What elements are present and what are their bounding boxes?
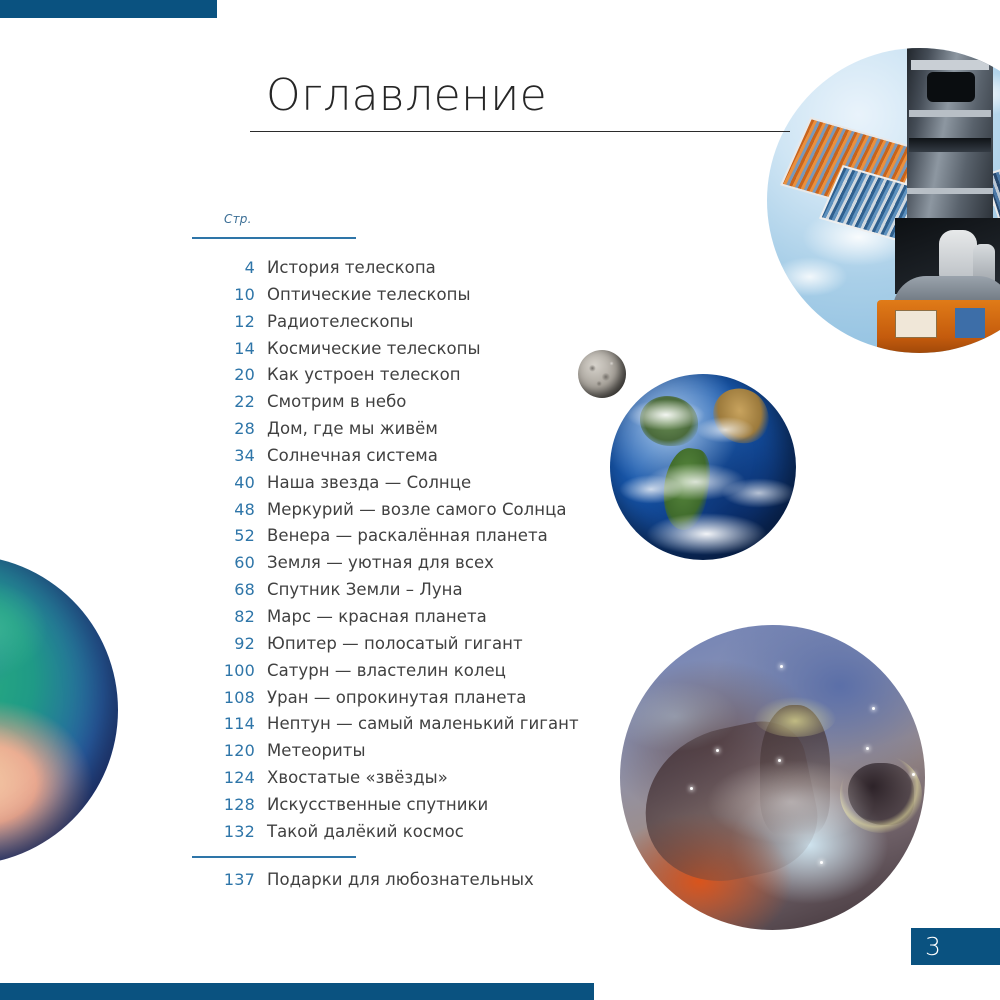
toc-entry[interactable]: 52Венера — раскалённая планета (192, 526, 612, 553)
toc-page-number: 12 (192, 312, 255, 331)
toc-entry-title: Земля — уютная для всех (267, 553, 494, 572)
telescope-aperture (927, 72, 975, 102)
toc-entry[interactable]: 60Земля — уютная для всех (192, 553, 612, 580)
telescope-ring-upper (909, 110, 991, 117)
nebula-photo (620, 625, 925, 930)
toc-page-number: 132 (192, 822, 255, 841)
toc-entry-title: Подарки для любознательных (267, 870, 534, 889)
toc-entry-title: Солнечная система (267, 446, 438, 465)
page-title: Оглавление (266, 70, 547, 121)
toc-page-number: 82 (192, 607, 255, 626)
venus-region-equator (0, 715, 44, 835)
toc-entry[interactable]: 124Хвостатые «звёзды» (192, 768, 612, 795)
toc-entry-title: Радиотелескопы (267, 312, 413, 331)
venus-region-northeast (0, 581, 48, 677)
hubble-space-telescope-photo (767, 48, 1000, 353)
toc-page-number: 20 (192, 365, 255, 384)
contents-bottom-divider (192, 856, 356, 858)
earth-cloud-layer (610, 374, 796, 560)
toc-entry-title: Нептун — самый маленький гигант (267, 714, 579, 733)
toc-entry[interactable]: 40Наша звезда — Солнце (192, 473, 612, 500)
toc-entry[interactable]: 100Сатурн — властелин колец (192, 661, 612, 688)
toc-page-number: 92 (192, 634, 255, 653)
toc-entry[interactable]: 48Меркурий — возле самого Солнца (192, 500, 612, 527)
contents-top-divider (192, 237, 356, 239)
toc-entry[interactable]: 68Спутник Земли – Луна (192, 580, 612, 607)
toc-entry[interactable]: 82Марс — красная планета (192, 607, 612, 634)
toc-entry[interactable]: 128Искусственные спутники (192, 795, 612, 822)
toc-page-number: 137 (192, 870, 255, 889)
toc-page-number: 48 (192, 500, 255, 519)
toc-page-number: 68 (192, 580, 255, 599)
table-of-contents: 4История телескопа10Оптические телескопы… (192, 258, 612, 849)
toc-page-number: 52 (192, 526, 255, 545)
toc-page-number: 4 (192, 258, 255, 277)
toc-entry-title: Уран — опрокинутая планета (267, 688, 526, 707)
nebula-stars (620, 625, 925, 930)
toc-page-number: 28 (192, 419, 255, 438)
toc-entry-title: Марс — красная планета (267, 607, 487, 626)
toc-page-number: 14 (192, 339, 255, 358)
toc-entry-title: Смотрим в небо (267, 392, 406, 411)
toc-page-number: 22 (192, 392, 255, 411)
toc-entry[interactable]: 20Как устроен телескоп (192, 365, 612, 392)
toc-entry-title: Такой далёкий космос (267, 822, 464, 841)
toc-entry[interactable]: 34Солнечная система (192, 446, 612, 473)
page-number-badge: 3 (911, 928, 1000, 965)
toc-entry[interactable]: 120Метеориты (192, 741, 612, 768)
toc-entry-title: Оптические телескопы (267, 285, 471, 304)
toc-entry-title: Искусственные спутники (267, 795, 488, 814)
top-accent-bar (0, 0, 217, 18)
toc-entry[interactable]: 22Смотрим в небо (192, 392, 612, 419)
toc-page-number: 124 (192, 768, 255, 787)
toc-entry[interactable]: 14Космические телескопы (192, 339, 612, 366)
telescope-base-module (877, 300, 1000, 353)
toc-entry-title: Космические телескопы (267, 339, 481, 358)
venus-surface-photo (0, 555, 118, 865)
toc-entry[interactable]: 28Дом, где мы живём (192, 419, 612, 446)
toc-page-number: 128 (192, 795, 255, 814)
toc-entry-title: Метеориты (267, 741, 366, 760)
toc-entry[interactable]: 92Юпитер — полосатый гигант (192, 634, 612, 661)
toc-entry[interactable]: 4История телескопа (192, 258, 612, 285)
toc-entry[interactable]: 10Оптические телескопы (192, 285, 612, 312)
toc-entry[interactable]: 137Подарки для любознательных (192, 870, 612, 897)
earth-globe-photo (610, 374, 796, 560)
toc-entry[interactable]: 108Уран — опрокинутая планета (192, 688, 612, 715)
page-column-label: Стр. (224, 212, 252, 226)
title-divider (250, 131, 790, 132)
toc-page-number: 114 (192, 714, 255, 733)
toc-entry-title: Дом, где мы живём (267, 419, 438, 438)
toc-page-number: 108 (192, 688, 255, 707)
toc-entry[interactable]: 132Такой далёкий космос (192, 822, 612, 849)
toc-entry[interactable]: 12Радиотелескопы (192, 312, 612, 339)
toc-entry-title: Юпитер — полосатый гигант (267, 634, 523, 653)
toc-entry-title: Сатурн — властелин колец (267, 661, 506, 680)
toc-entry[interactable]: 114Нептун — самый маленький гигант (192, 714, 612, 741)
toc-entry-title: Хвостатые «звёзды» (267, 768, 448, 787)
toc-page-number: 40 (192, 473, 255, 492)
bottom-accent-bar (0, 983, 594, 1000)
telescope-ring-mid (907, 188, 993, 194)
table-of-contents-footer: 137Подарки для любознательных (192, 870, 612, 897)
toc-page-number: 120 (192, 741, 255, 760)
toc-page-number: 100 (192, 661, 255, 680)
toc-page-number: 34 (192, 446, 255, 465)
toc-entry-title: Спутник Земли – Луна (267, 580, 463, 599)
toc-entry-title: Меркурий — возле самого Солнца (267, 500, 567, 519)
toc-entry-title: История телескопа (267, 258, 436, 277)
toc-entry-title: Венера — раскалённая планета (267, 526, 548, 545)
toc-page-number: 10 (192, 285, 255, 304)
toc-entry-title: Наша звезда — Солнце (267, 473, 471, 492)
toc-entry-title: Как устроен телескоп (267, 365, 461, 384)
toc-page-number: 60 (192, 553, 255, 572)
